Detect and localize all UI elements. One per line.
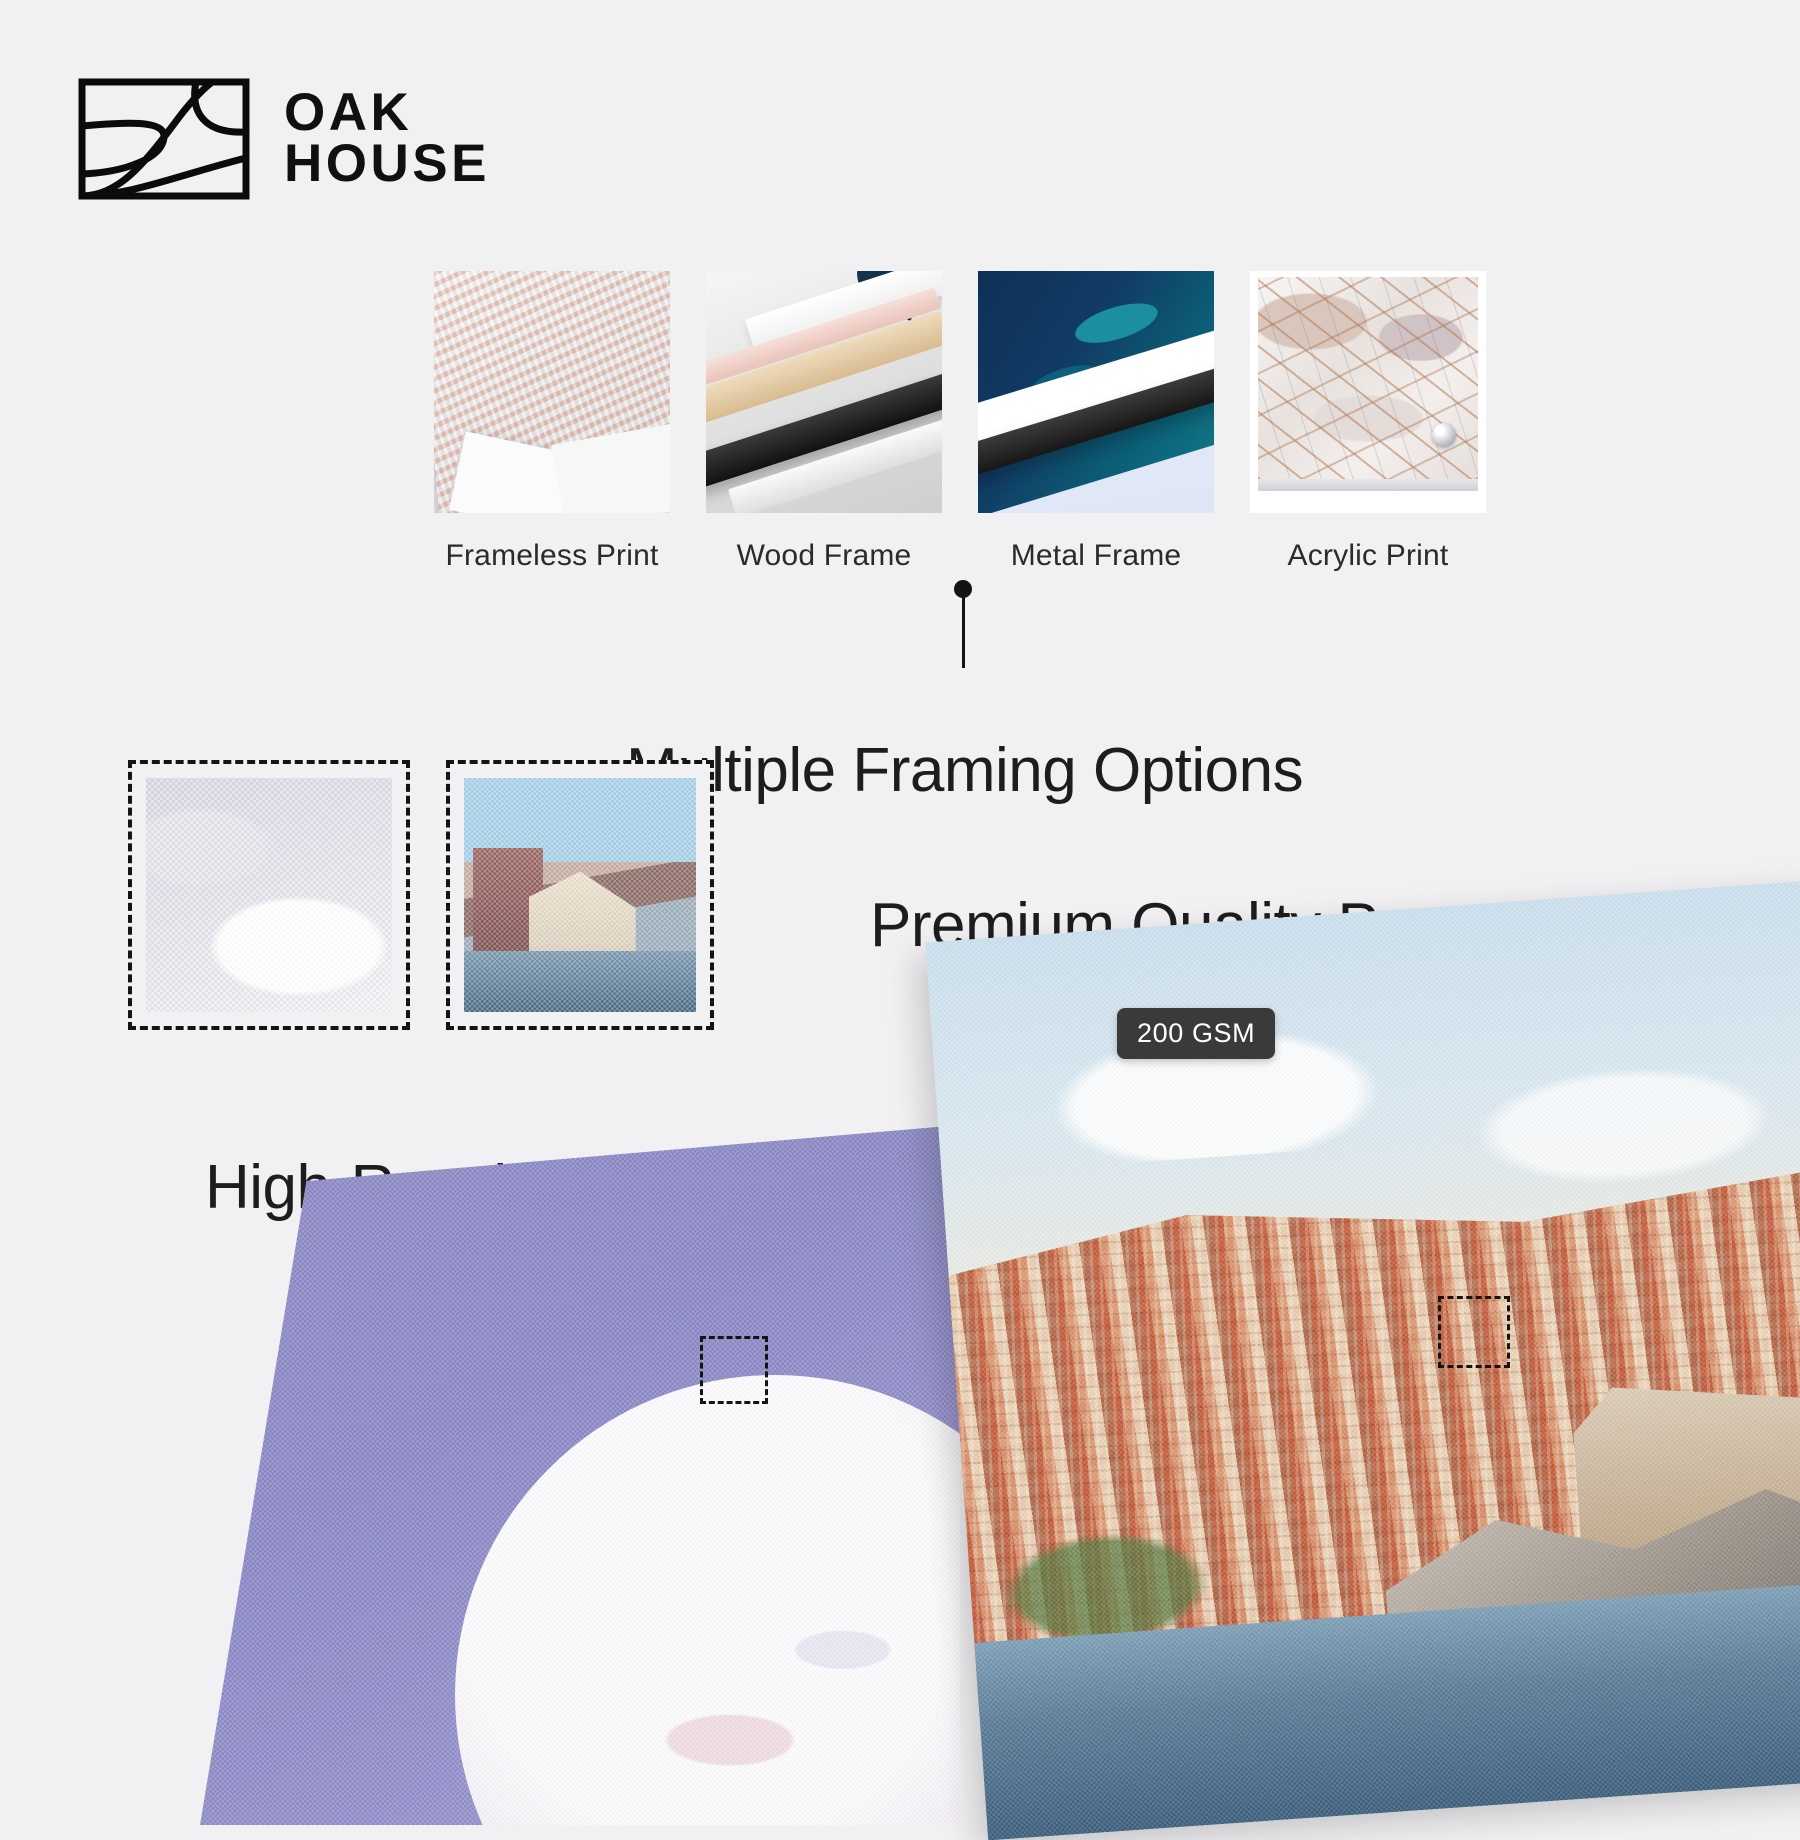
framing-option-wood-frame[interactable]: Wood Frame <box>706 271 942 573</box>
crop-marker-purple-print <box>700 1336 768 1404</box>
acrylic-mount-stud-icon <box>1432 423 1456 447</box>
marble-artwork <box>1258 277 1478 479</box>
acrylic-print-thumbnail <box>1250 271 1486 513</box>
crop-wall <box>473 848 543 974</box>
framing-option-acrylic-print[interactable]: Acrylic Print <box>1250 271 1486 573</box>
framing-option-frameless-print[interactable]: Frameless Print <box>434 271 670 573</box>
wood-frame-thumbnail <box>706 271 942 513</box>
crop-cliff <box>529 872 636 1012</box>
brand-logo: OAK HOUSE <box>78 78 490 200</box>
coastal-town-print-mockup <box>925 880 1800 1840</box>
framing-option-label: Wood Frame <box>706 539 942 573</box>
feature-graphic-canvas: OAK HOUSE Frameless Print Wood Frame <box>0 0 1800 1800</box>
framing-heading: Multiple Framing Options <box>626 735 1303 806</box>
paper-grain-overlay <box>200 1125 960 1825</box>
frameless-print-thumbnail <box>434 271 670 513</box>
pointer-stem <box>962 596 965 668</box>
paper-grain-overlay <box>925 880 1800 1840</box>
brand-name-line-1: OAK <box>284 88 490 139</box>
brand-name-line-2: HOUSE <box>284 139 490 190</box>
coastal-detail-crop-image <box>464 778 696 1012</box>
gsm-badge: 200 GSM <box>1117 1008 1275 1059</box>
paper-texture-crop-image <box>146 778 392 1012</box>
acrylic-edge <box>1258 479 1478 491</box>
metal-frame-thumbnail <box>978 271 1214 513</box>
abstract-moon-print-mockup <box>200 1125 960 1825</box>
resolution-crop-coastal-detail <box>446 760 714 1030</box>
resolution-crop-paper-texture <box>128 760 410 1030</box>
framing-option-metal-frame[interactable]: Metal Frame <box>978 271 1214 573</box>
oak-house-landscape-icon <box>78 78 250 200</box>
framing-option-label: Frameless Print <box>434 539 670 573</box>
framing-options-row: Frameless Print Wood Frame Metal Frame <box>434 271 1486 573</box>
framing-option-label: Metal Frame <box>978 539 1214 573</box>
crop-marker-town-print <box>1438 1296 1510 1368</box>
framing-option-label: Acrylic Print <box>1250 539 1486 573</box>
crop-sea <box>464 951 696 1012</box>
brand-wordmark: OAK HOUSE <box>284 88 490 190</box>
